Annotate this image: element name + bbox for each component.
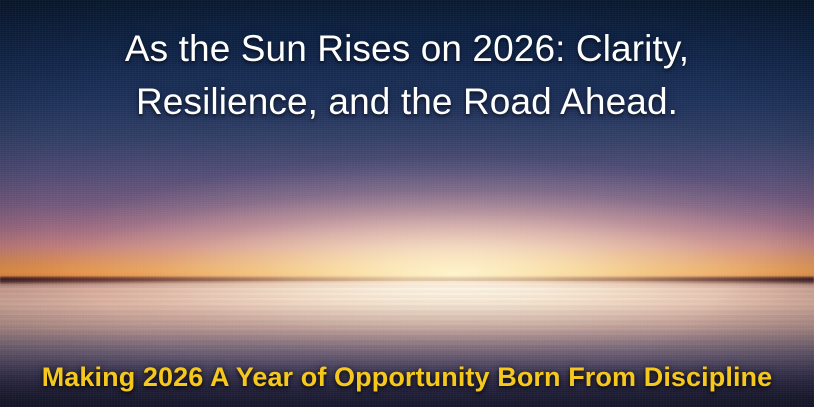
sunrise-banner: As the Sun Rises on 2026: Clarity, Resil… [0, 0, 814, 407]
subheadline: Making 2026 A Year of Opportunity Born F… [0, 360, 814, 394]
text-overlay: As the Sun Rises on 2026: Clarity, Resil… [0, 0, 814, 407]
headline-line-2: Resilience, and the Road Ahead. [36, 75, 778, 128]
headline-line-1: As the Sun Rises on 2026: Clarity, [36, 22, 778, 75]
headline: As the Sun Rises on 2026: Clarity, Resil… [0, 22, 814, 128]
